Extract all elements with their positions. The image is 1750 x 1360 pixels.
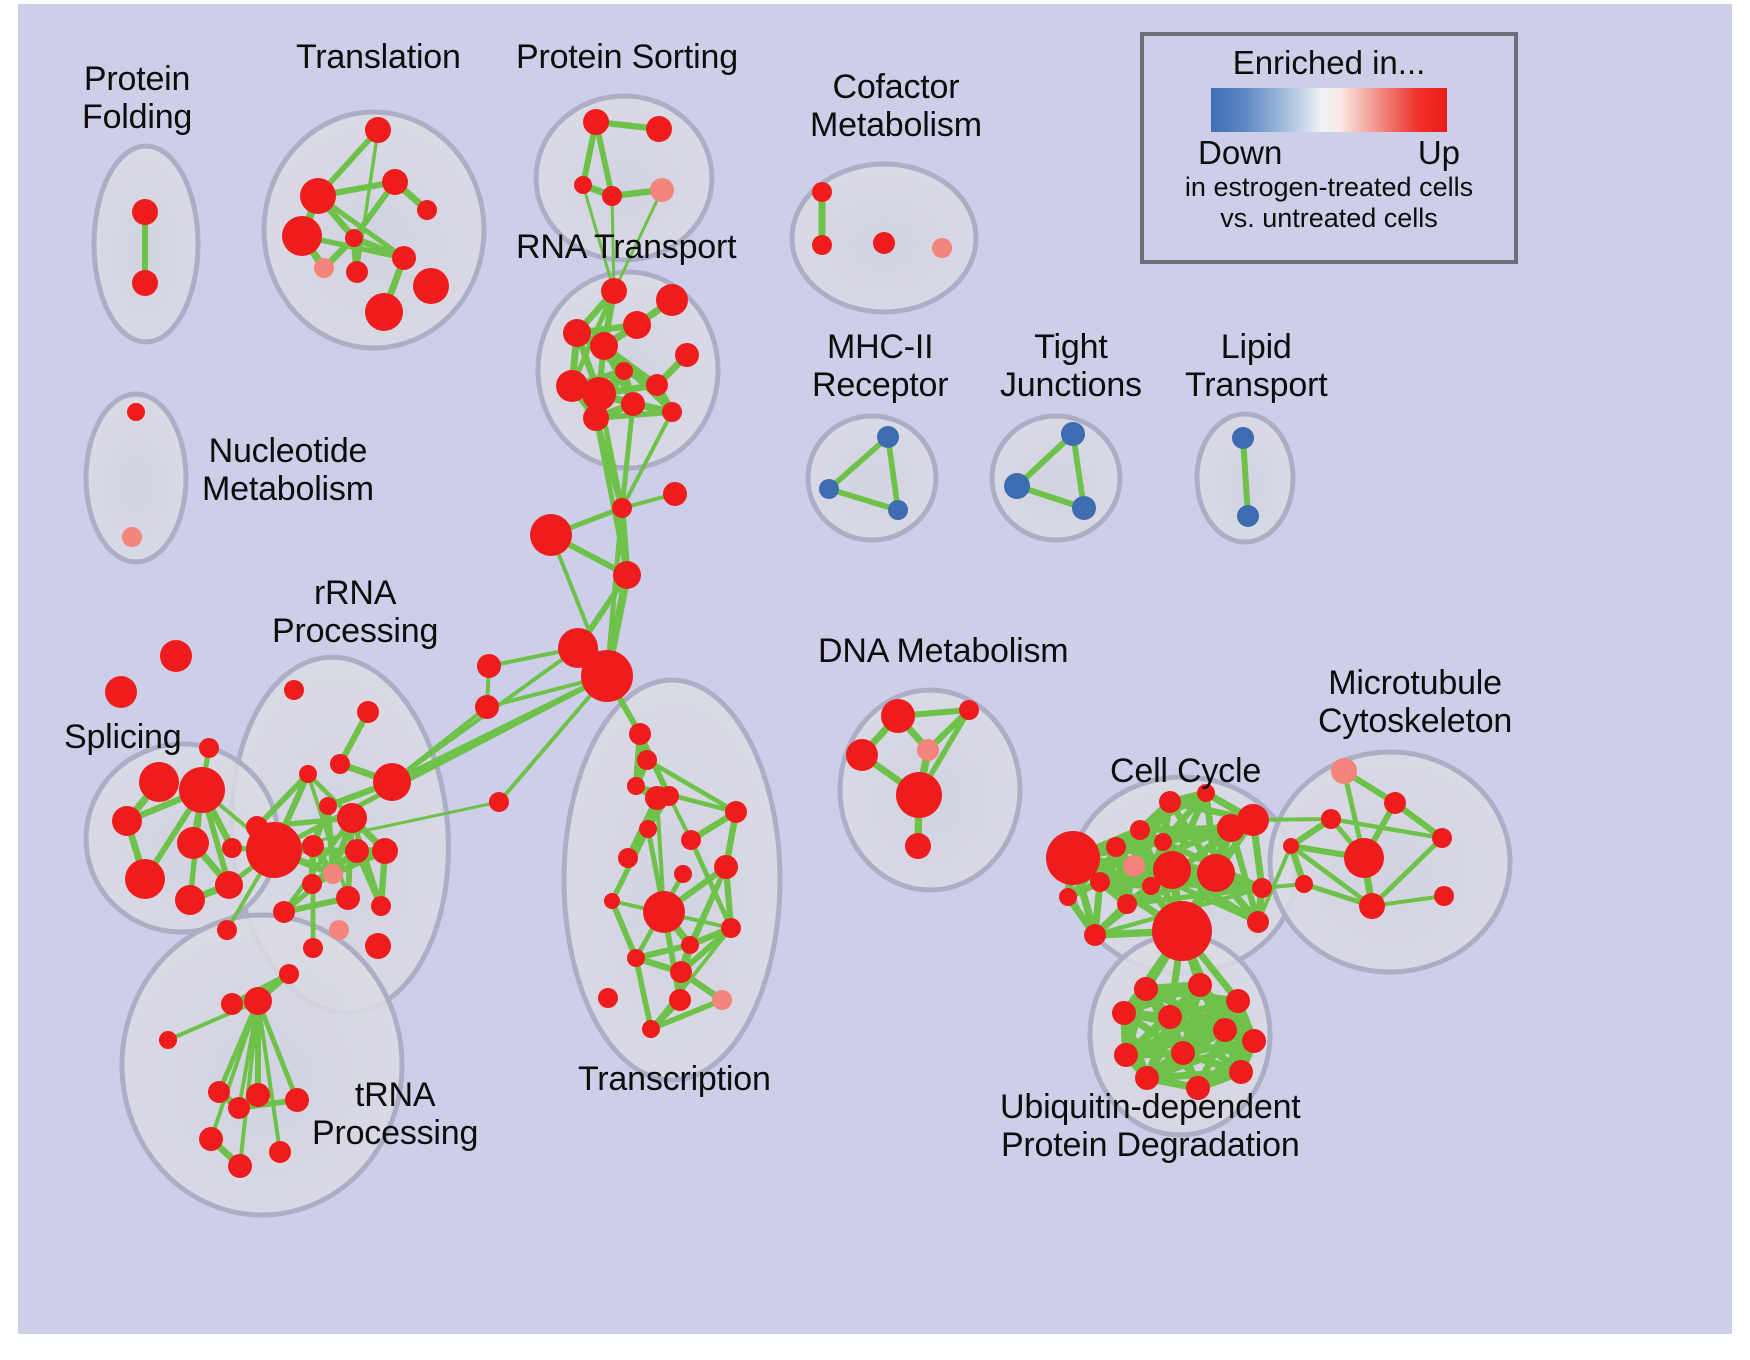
cluster-label-splicing: Splicing xyxy=(64,718,181,756)
network-node[interactable] xyxy=(643,891,685,933)
network-node[interactable] xyxy=(337,803,367,833)
network-node[interactable] xyxy=(365,117,391,143)
cluster-label-translation: Translation xyxy=(296,38,461,76)
cluster-label-line: Cofactor xyxy=(810,68,982,106)
network-node[interactable] xyxy=(574,176,592,194)
network-node[interactable] xyxy=(372,838,398,864)
network-node[interactable] xyxy=(1142,877,1160,895)
cluster-ellipse-trna-processing xyxy=(122,915,402,1215)
network-node[interactable] xyxy=(365,933,391,959)
network-node[interactable] xyxy=(712,990,732,1010)
network-node[interactable] xyxy=(959,700,979,720)
network-node[interactable] xyxy=(132,199,158,225)
network-node[interactable] xyxy=(674,865,692,883)
network-node[interactable] xyxy=(314,258,334,278)
network-node[interactable] xyxy=(127,403,145,421)
cluster-label-line: MHC-II xyxy=(812,328,948,366)
network-node[interactable] xyxy=(621,392,645,416)
network-node[interactable] xyxy=(125,859,165,899)
network-node[interactable] xyxy=(881,699,915,733)
network-node[interactable] xyxy=(160,640,192,672)
cluster-label-line: Processing xyxy=(272,612,438,650)
network-node[interactable] xyxy=(1072,496,1096,520)
network-node[interactable] xyxy=(323,864,343,884)
cluster-label-line: Nucleotide xyxy=(202,432,374,470)
network-node[interactable] xyxy=(269,1141,291,1163)
network-node[interactable] xyxy=(659,786,679,806)
network-node[interactable] xyxy=(228,1097,250,1119)
cluster-label-line: Ubiquitin-dependent xyxy=(1000,1088,1301,1126)
network-node[interactable] xyxy=(1283,838,1299,854)
legend-high-label: Up xyxy=(1418,134,1460,172)
network-node[interactable] xyxy=(896,772,942,818)
cluster-label-line: Cell Cycle xyxy=(1110,752,1261,790)
network-node[interactable] xyxy=(175,885,205,915)
network-node[interactable] xyxy=(602,186,622,206)
network-figure: ProteinFoldingTranslationProtein Sorting… xyxy=(0,0,1750,1360)
network-node[interactable] xyxy=(1252,878,1272,898)
cluster-ellipse-mhc-ii-receptor xyxy=(808,416,936,540)
network-node[interactable] xyxy=(279,964,299,984)
network-node[interactable] xyxy=(1247,911,1269,933)
network-node[interactable] xyxy=(417,200,437,220)
cluster-label-trna-processing: tRNAProcessing xyxy=(312,1076,478,1152)
network-node[interactable] xyxy=(413,268,449,304)
network-node[interactable] xyxy=(669,989,691,1011)
network-node[interactable] xyxy=(819,479,839,499)
network-node[interactable] xyxy=(583,109,609,135)
cluster-label-protein-folding: ProteinFolding xyxy=(82,60,192,136)
cluster-label-protein-sorting: Protein Sorting xyxy=(516,38,738,76)
network-node[interactable] xyxy=(215,871,243,899)
network-node[interactable] xyxy=(604,893,620,909)
network-node[interactable] xyxy=(345,839,369,863)
network-node[interactable] xyxy=(244,987,272,1015)
network-node[interactable] xyxy=(663,482,687,506)
network-node[interactable] xyxy=(199,1127,223,1151)
network-node[interactable] xyxy=(1197,854,1235,892)
cluster-ellipse-microtubule-cytoskeleton xyxy=(1270,752,1510,972)
network-node[interactable] xyxy=(1004,473,1030,499)
network-node[interactable] xyxy=(1090,872,1110,892)
network-node[interactable] xyxy=(646,374,668,396)
network-node[interactable] xyxy=(221,993,243,1015)
network-node[interactable] xyxy=(132,270,158,296)
network-node[interactable] xyxy=(1359,893,1385,919)
network-node[interactable] xyxy=(1061,422,1085,446)
network-node[interactable] xyxy=(246,1083,270,1107)
cluster-label-rrna-processing: rRNAProcessing xyxy=(272,574,438,650)
cluster-label-lipid-transport: LipidTransport xyxy=(1185,328,1327,404)
network-node[interactable] xyxy=(590,332,618,360)
network-node[interactable] xyxy=(392,246,416,270)
network-node[interactable] xyxy=(1159,791,1181,813)
network-node[interactable] xyxy=(1226,989,1250,1013)
network-node[interactable] xyxy=(917,739,939,761)
network-node[interactable] xyxy=(112,806,142,836)
cluster-label-line: tRNA xyxy=(312,1076,478,1114)
network-node[interactable] xyxy=(319,797,337,815)
network-node[interactable] xyxy=(725,801,747,823)
network-node[interactable] xyxy=(675,343,699,367)
network-node[interactable] xyxy=(639,820,657,838)
cluster-label-line: Lipid xyxy=(1185,328,1327,366)
cluster-label-line: RNA Transport xyxy=(516,228,736,266)
network-node[interactable] xyxy=(1084,924,1106,946)
network-node[interactable] xyxy=(336,886,360,910)
network-node[interactable] xyxy=(1188,973,1212,997)
network-node[interactable] xyxy=(656,284,688,316)
legend-low-label: Down xyxy=(1198,134,1282,172)
network-node[interactable] xyxy=(1117,894,1137,914)
network-node[interactable] xyxy=(1130,820,1150,840)
network-node[interactable] xyxy=(877,426,899,448)
network-node[interactable] xyxy=(179,767,225,813)
network-node[interactable] xyxy=(601,278,627,304)
network-node[interactable] xyxy=(846,739,878,771)
network-node[interactable] xyxy=(346,261,368,283)
cluster-label-rna-transport: RNA Transport xyxy=(516,228,736,266)
cluster-label-line: Metabolism xyxy=(202,470,374,508)
cluster-label-line: Splicing xyxy=(64,718,181,756)
cluster-label-line: DNA Metabolism xyxy=(818,632,1068,670)
network-node[interactable] xyxy=(1344,838,1384,878)
network-node[interactable] xyxy=(873,232,895,254)
legend-subtitle-line-2: vs. untreated cells xyxy=(1220,203,1438,234)
network-node[interactable] xyxy=(1213,1018,1237,1042)
cluster-label-line: Metabolism xyxy=(810,106,982,144)
network-node[interactable] xyxy=(662,402,682,422)
cluster-label-line: Translation xyxy=(296,38,461,76)
network-node[interactable] xyxy=(222,838,242,858)
network-node[interactable] xyxy=(1059,888,1077,906)
network-node[interactable] xyxy=(1123,855,1145,877)
network-node[interactable] xyxy=(159,1031,177,1049)
network-node[interactable] xyxy=(637,750,657,770)
cluster-label-microtubule-cytoskeleton: MicrotubuleCytoskeleton xyxy=(1318,664,1512,740)
network-node[interactable] xyxy=(1232,427,1254,449)
network-node[interactable] xyxy=(1321,809,1341,829)
network-node[interactable] xyxy=(932,238,952,258)
network-node[interactable] xyxy=(382,169,408,195)
network-node[interactable] xyxy=(563,319,591,347)
cluster-label-line: rRNA xyxy=(272,574,438,612)
network-node[interactable] xyxy=(627,949,645,967)
network-node[interactable] xyxy=(228,1154,252,1178)
cluster-label-dna-metabolism: DNA Metabolism xyxy=(818,632,1068,670)
network-node[interactable] xyxy=(598,988,618,1008)
network-node[interactable] xyxy=(627,777,645,795)
cluster-label-cofactor-metabolism: CofactorMetabolism xyxy=(810,68,982,144)
cluster-label-line: Folding xyxy=(82,98,192,136)
network-node[interactable] xyxy=(613,561,641,589)
network-node[interactable] xyxy=(812,235,832,255)
network-node[interactable] xyxy=(681,830,701,850)
network-node[interactable] xyxy=(1432,828,1452,848)
network-node[interactable] xyxy=(1229,1060,1253,1084)
legend-title: Enriched in... xyxy=(1233,44,1426,82)
network-node[interactable] xyxy=(300,178,336,214)
cluster-label-line: Tight xyxy=(1000,328,1142,366)
cluster-label-mhc-ii-receptor: MHC-IIReceptor xyxy=(812,328,948,404)
network-node[interactable] xyxy=(615,362,633,380)
network-node[interactable] xyxy=(650,178,674,202)
network-node[interactable] xyxy=(282,216,322,256)
legend-subtitle-line-1: in estrogen-treated cells xyxy=(1185,172,1473,203)
cluster-label-nucleotide-metabolism: NucleotideMetabolism xyxy=(202,432,374,508)
network-node[interactable] xyxy=(273,901,295,923)
network-node[interactable] xyxy=(1135,1066,1159,1090)
network-node[interactable] xyxy=(629,723,651,745)
network-node[interactable] xyxy=(1237,505,1259,527)
network-node[interactable] xyxy=(208,1081,230,1103)
network-node[interactable] xyxy=(1152,901,1212,961)
network-node[interactable] xyxy=(217,920,237,940)
network-node[interactable] xyxy=(1154,833,1172,851)
network-node[interactable] xyxy=(530,514,572,556)
cluster-label-line: Transport xyxy=(1185,366,1327,404)
cluster-label-line: Junctions xyxy=(1000,366,1142,404)
network-node[interactable] xyxy=(670,961,692,983)
network-node[interactable] xyxy=(612,498,632,518)
network-node[interactable] xyxy=(583,405,609,431)
network-node[interactable] xyxy=(302,874,322,894)
cluster-label-line: Cytoskeleton xyxy=(1318,702,1512,740)
network-node[interactable] xyxy=(246,822,302,878)
network-node[interactable] xyxy=(618,848,638,868)
network-node[interactable] xyxy=(285,1088,309,1112)
network-node[interactable] xyxy=(1158,1005,1182,1029)
network-node[interactable] xyxy=(1134,977,1158,1001)
cluster-label-line: Protein xyxy=(82,60,192,98)
network-node[interactable] xyxy=(475,695,499,719)
network-node[interactable] xyxy=(489,792,509,812)
network-node[interactable] xyxy=(1242,1029,1266,1053)
network-node[interactable] xyxy=(1295,875,1313,893)
network-node[interactable] xyxy=(1112,1001,1136,1025)
cluster-label-line: Transcription xyxy=(578,1060,771,1098)
legend-gradient-bar xyxy=(1211,88,1447,132)
cluster-label-transcription: Transcription xyxy=(578,1060,771,1098)
network-node[interactable] xyxy=(646,116,672,142)
network-node[interactable] xyxy=(302,835,324,857)
network-node[interactable] xyxy=(642,1020,660,1038)
network-node[interactable] xyxy=(477,654,501,678)
network-node[interactable] xyxy=(199,738,219,758)
network-node[interactable] xyxy=(329,920,349,940)
network-node[interactable] xyxy=(357,701,379,723)
network-node[interactable] xyxy=(812,182,832,202)
network-node[interactable] xyxy=(1384,792,1406,814)
cluster-label-line: Protein Sorting xyxy=(516,38,738,76)
network-node[interactable] xyxy=(284,680,304,700)
network-node[interactable] xyxy=(1237,804,1269,836)
cluster-label-tight-junctions: TightJunctions xyxy=(1000,328,1142,404)
cluster-label-line: Processing xyxy=(312,1114,478,1152)
cluster-label-line: Microtubule xyxy=(1318,664,1512,702)
legend-endpoints: Down Up xyxy=(1198,134,1460,172)
network-node[interactable] xyxy=(714,855,738,879)
network-node[interactable] xyxy=(330,754,350,774)
network-node[interactable] xyxy=(345,229,363,247)
legend-panel: Enriched in... Down Up in estrogen-treat… xyxy=(1140,32,1518,264)
cluster-label-line: Protein Degradation xyxy=(1000,1126,1301,1164)
network-node[interactable] xyxy=(122,527,142,547)
network-node[interactable] xyxy=(139,762,179,802)
network-node[interactable] xyxy=(299,765,317,783)
network-node[interactable] xyxy=(623,311,651,339)
network-node[interactable] xyxy=(581,650,633,702)
cluster-label-line: Receptor xyxy=(812,366,948,404)
network-node[interactable] xyxy=(1114,1043,1138,1067)
network-node[interactable] xyxy=(303,938,323,958)
network-node[interactable] xyxy=(681,936,699,954)
cluster-label-ubiquitin-protein-degradation: Ubiquitin-dependentProtein Degradation xyxy=(1000,1088,1301,1164)
network-node[interactable] xyxy=(373,763,411,801)
network-node[interactable] xyxy=(905,833,931,859)
network-node[interactable] xyxy=(888,500,908,520)
network-node[interactable] xyxy=(177,827,209,859)
network-node[interactable] xyxy=(1331,758,1357,784)
network-node[interactable] xyxy=(1106,837,1126,857)
network-node[interactable] xyxy=(721,918,741,938)
cluster-label-cell-cycle: Cell Cycle xyxy=(1110,752,1261,790)
network-node[interactable] xyxy=(1434,886,1454,906)
network-node[interactable] xyxy=(1171,1041,1195,1065)
network-node[interactable] xyxy=(105,676,137,708)
network-node[interactable] xyxy=(365,293,403,331)
network-node[interactable] xyxy=(371,896,391,916)
